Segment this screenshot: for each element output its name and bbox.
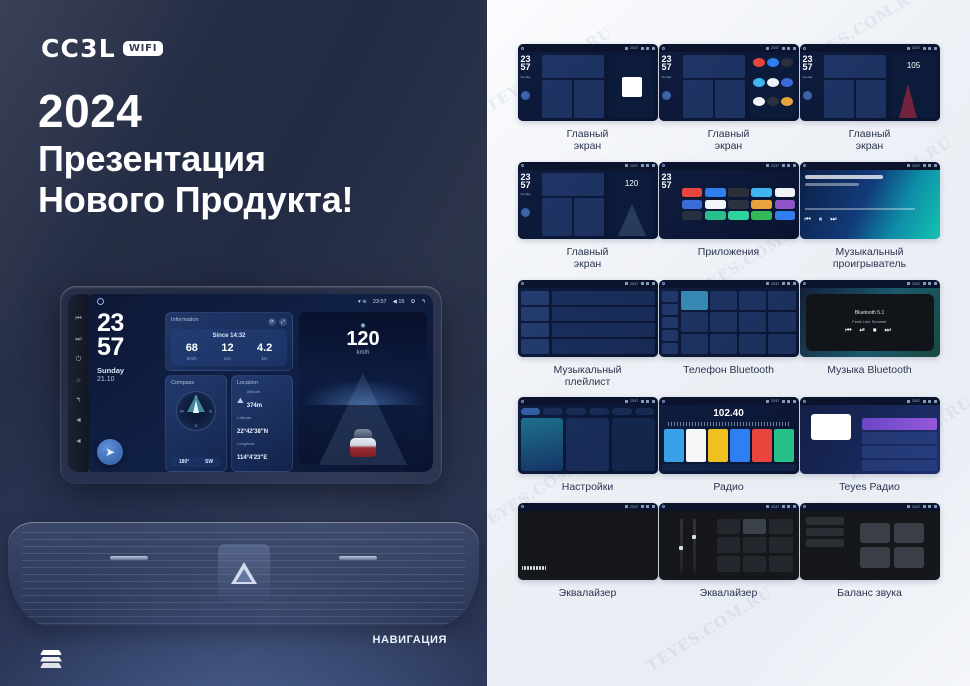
caption-line-2: проигрыватель [800,258,940,270]
dashboard-air-vents [8,522,479,626]
compass-readout: 180° SW [171,457,221,467]
caption-line-1: Главный [518,128,658,140]
home-icon [662,164,665,167]
caption-line-1: Настройки [518,481,658,493]
screen-thumbnail[interactable]: 23:57 [659,280,799,357]
gallery-item[interactable]: 23:57Телефон Bluetooth [659,280,799,389]
thumbnail-caption: Эквалайзер [518,587,658,599]
thumbnail-caption: Музыка Bluetooth [800,364,940,376]
information-title: Information [171,317,199,323]
app-icon [728,200,749,209]
clock-date: 21.10 [97,376,159,383]
longitude-label: Longitude [237,441,287,446]
app-grid [679,170,799,239]
screen-thumbnail[interactable]: 23:572357Sunday [659,44,799,121]
compass-point-e: E [209,409,212,414]
status-icons: 23:57 [625,282,655,286]
status-icons: 23:57 [766,399,796,403]
presentation-page: CC3L WIFI 2024 Презентация Нового Продук… [0,0,970,686]
thumbnail-caption: Телефон Bluetooth [659,364,799,376]
clock-weekday: Sunday [97,366,159,375]
gallery-item[interactable]: 23:572357Sunday105Главныйэкран [800,44,940,153]
speed-value: 120 [299,329,427,350]
home-icon [803,282,806,285]
navigation-arrow-icon [521,208,530,217]
thumb-status-bar: 23:57 [518,280,658,288]
compass-point-w: W [180,409,184,414]
lower-widgets-row: Compass N E S W 180° [165,375,293,472]
vent-tab-left[interactable] [110,556,148,560]
location-widget[interactable]: Location ⛰ Altitude 374m Latitude [231,375,293,472]
thumb-speed: 120 [625,179,638,188]
home-icon [803,505,806,508]
app-icon [775,188,796,197]
home-icon[interactable] [97,298,104,305]
gallery-item[interactable]: 23:57Эквалайзер [518,503,658,599]
status-time: 23:57 [373,299,387,305]
stat-unit: min [221,356,233,361]
status-icons: 23:57 [766,46,796,50]
compass-point-n: N [195,394,198,399]
back-button[interactable]: ↰ [76,397,82,404]
app-icon [751,211,772,220]
thumb-status-bar: 23:57 [518,162,658,170]
caption-line-1: Музыкальный [518,364,658,376]
stat-unit: km [257,356,272,361]
prev-track-button[interactable]: ⏮ [75,315,81,322]
compass-dial: N E S W [176,391,216,431]
thumbnail-caption: Эквалайзер [659,587,799,599]
home-icon [803,47,806,50]
wifi-badge: WIFI [123,41,164,56]
information-widget[interactable]: Information ⟳ ⤢ Since 14:32 [165,312,293,371]
screen-thumbnail[interactable]: 23:57 [800,397,940,474]
thumb-widgets [822,52,888,121]
caption-line-2: экран [659,140,799,152]
location-title: Location [237,380,287,386]
altitude-label: Altitude [247,389,262,394]
navigation-arrow-icon[interactable]: ➤ [97,439,123,465]
app-icon [705,211,726,220]
status-bar-right: ▾≋ 23:57 ◀15 ⚙ ↰ [358,299,426,305]
status-icons: 23:57 [766,505,796,509]
power-button[interactable]: ⏻ [76,356,82,363]
caption-line-1: Главный [518,246,658,258]
gallery-item[interactable]: 23:57Teyes Радио [800,397,940,493]
gallery-item[interactable]: 23:57Эквалайзер [659,503,799,599]
gallery-item[interactable]: 23:572357Sunday120Главныйэкран [518,162,658,271]
car-illustration [348,429,378,457]
thumbnail-caption: Приложения [659,246,799,258]
thumb-clock: 2357Sunday [659,52,681,121]
caption-line-2: плейлист [518,376,658,388]
gallery-item[interactable]: 23:57Bluetooth 5.1Feels Like Summer⏮ ⏯ ⏹… [800,280,940,389]
hazard-triangle-button[interactable] [218,544,270,602]
caption-line-1: Главный [659,128,799,140]
thumb-widgets [540,52,606,121]
screen-content: 23 57 Sunday 21.10 ➤ Information ⟳ [89,309,433,472]
thumbnail-caption: Главныйэкран [518,128,658,153]
volume-indicator[interactable]: ◀15 [393,299,405,305]
caption-line-1: Эквалайзер [518,587,658,599]
headline-line-2: Нового Продукта! [38,179,353,220]
screen-thumbnail[interactable]: 23:57 [800,503,940,580]
thumb-speed: 105 [907,61,920,70]
model-name: CC3L [41,34,116,63]
status-icons: 23:57 [907,282,937,286]
home-icon [521,505,524,508]
refresh-icon[interactable]: ⟳ [268,318,276,326]
status-icons: 23:57 [625,399,655,403]
clock-minutes: 57 [97,336,159,360]
thumb-clock: 2357Sunday [800,52,822,121]
app-icon [775,200,796,209]
thumbnail-caption: Радио [659,481,799,493]
compass-direction: SW [205,459,213,465]
caption-line-1: Радио [659,481,799,493]
thumb-status-bar: 23:57 [800,44,940,52]
compass-heading: 180° [179,459,189,465]
longitude-value: 114°4'23"E [237,455,267,461]
thumb-status-bar: 23:57 [659,162,799,170]
thumb-status-bar: 23:57 [518,503,658,511]
longitude-row: Longitude 114°4'23"E [237,441,287,464]
home-icon [521,164,524,167]
status-icons: 23:57 [766,164,796,168]
screen-thumbnail[interactable]: 23:572357 [659,162,799,239]
screen-thumbnail[interactable]: 23:57⏮ ⏸ ⏭ [800,162,940,239]
home-icon [662,400,665,403]
thumbnail-caption: Главныйэкран [518,246,658,271]
caption-line-1: Телефон Bluetooth [659,364,799,376]
gallery-item[interactable]: 23:572357SundayГлавныйэкран [518,44,658,153]
screen-thumbnail[interactable]: 23:57102.40 [659,397,799,474]
trip-stats: 68 km/h 12 min 4.2 km [174,343,284,361]
thumb-widgets [540,170,606,239]
stat-distance: 4.2 km [257,343,272,361]
status-icons: 23:57 [625,46,655,50]
thumb-clock: 2357Sunday [518,52,540,121]
home-icon [521,400,524,403]
left-hero-panel: CC3L WIFI 2024 Презентация Нового Продук… [0,0,487,686]
next-track-button[interactable]: ⏭ [75,336,81,343]
thumb-status-bar: 23:57 [659,280,799,288]
thumb-status-bar: 23:57 [659,503,799,511]
volume-up-button[interactable]: ◄ [75,438,82,445]
gallery-item[interactable]: 23:572357SundayГлавныйэкран [659,44,799,153]
device-side-buttons[interactable]: ⏮ ⏭ ⏻ ⌂ ↰ ◄ ◄ [68,294,89,472]
page-title: 2024 Презентация Нового Продукта! [38,86,353,220]
gallery-item[interactable]: 23:57⏮ ⏸ ⏭Музыкальныйпроигрыватель [800,162,940,271]
stat-speed: 68 km/h [186,343,198,361]
app-icon [728,188,749,197]
status-icons: 23:57 [907,164,937,168]
screen-thumbnail[interactable]: 23:572357Sunday [518,44,658,121]
screen-thumbnail[interactable]: 23:57 [659,503,799,580]
screens-gallery-panel: TEYES.COM.RU TEYES.COM.RU TEYES.COM.RU T… [487,0,970,686]
since-label: Since 14:32 [174,333,284,339]
compass-point-s: S [195,423,198,428]
information-body: Since 14:32 68 km/h 12 min [171,329,287,366]
screen-thumbnail[interactable]: 23:57 [518,503,658,580]
status-icons: 23:57 [766,282,796,286]
radio-frequency: 102.40 [662,408,796,419]
navigation-arrow-icon [662,91,671,100]
status-icons: 23:57 [907,505,937,509]
volume-level: 15 [398,299,404,305]
volume-down-button[interactable]: ◄ [75,417,82,424]
widgets-column: Information ⟳ ⤢ Since 14:32 [165,312,293,465]
compass-title: Compass [171,380,221,386]
drive-view-panel[interactable]: ◉ 120 km/h [299,312,427,465]
equalizer-sliders [518,511,551,580]
thumbnail-caption: Настройки [518,481,658,493]
app-icon [682,200,703,209]
stat-duration: 12 min [221,343,233,361]
caption-line-2: экран [518,258,658,270]
head-unit-device: ⏮ ⏭ ⏻ ⌂ ↰ ◄ ◄ ▾≋ 23:57 ◀15 ⚙ ↰ [60,286,442,484]
home-button[interactable]: ⌂ [76,377,80,384]
thumb-status-bar: 23:57 [800,503,940,511]
screen-thumbnail[interactable]: 23:572357Sunday120 [518,162,658,239]
app-icon [751,200,772,209]
speed-unit: km/h [299,350,427,356]
caption-line-2: экран [800,140,940,152]
app-icon [682,211,703,220]
app-icon [705,200,726,209]
home-icon [803,400,806,403]
app-icon [751,188,772,197]
thumb-widgets [681,52,747,121]
thumbnail-caption: Teyes Радио [800,481,940,493]
gear-icon[interactable]: ⚙ [410,299,415,305]
device-screen[interactable]: ▾≋ 23:57 ◀15 ⚙ ↰ 23 57 Sunday 21.10 ➤ [89,294,433,472]
app-icon [705,188,726,197]
clock-widget[interactable]: 23 57 Sunday 21.10 ➤ [97,312,159,465]
app-icon [728,211,749,220]
home-icon [803,164,806,167]
expand-icon[interactable]: ⤢ [279,318,287,326]
caption-line-1: Приложения [659,246,799,258]
caption-line-1: Teyes Радио [800,481,940,493]
latitude-row: Latitude 22°42'38"N [237,415,287,438]
gallery-item[interactable]: 23:57Баланс звука [800,503,940,599]
compass-widget[interactable]: Compass N E S W 180° [165,375,227,472]
gallery-item[interactable]: 23:57Настройки [518,397,658,493]
thumbnail-caption: Музыкальныйпроигрыватель [800,246,940,271]
altitude-row: ⛰ Altitude 374m [237,389,287,412]
information-header: Information ⟳ ⤢ [171,317,287,326]
thumb-status-bar: 23:57 [800,280,940,288]
caption-line-1: Главный [800,128,940,140]
altitude-value: 374m [247,403,262,409]
thumb-status-bar: 23:57 [659,397,799,405]
app-icon [682,188,703,197]
vent-tab-right[interactable] [339,556,377,560]
thumb-status-bar: 23:57 [518,397,658,405]
thumb-status-bar: 23:57 [800,397,940,405]
thumb-status-bar: 23:57 [659,44,799,52]
wifi-icon[interactable]: ▾≋ [358,299,367,305]
caption-line-1: Музыкальный [800,246,940,258]
back-arrow-icon[interactable]: ↰ [421,299,426,305]
screen-thumbnail[interactable]: 23:572357Sunday105 [800,44,940,121]
home-icon [521,47,524,50]
gallery-grid: 23:572357SundayГлавныйэкран23:572357Sund… [487,44,970,599]
status-icons: 23:57 [907,399,937,403]
hazard-icon [231,562,257,584]
product-logo: CC3L WIFI [41,34,163,63]
thumbnail-caption: Музыкальныйплейлист [518,364,658,389]
latitude-label: Latitude [237,415,287,420]
navigation-arrow-icon [521,91,530,100]
gallery-item[interactable]: 23:57102.40Радио [659,397,799,493]
latitude-value: 22°42'38"N [237,429,268,435]
caption-line-1: Музыка Bluetooth [800,364,940,376]
screen-thumbnail[interactable]: 23:57 [518,280,658,357]
thumb-clock: 2357Sunday [518,170,540,239]
thumb-status-bar: 23:57 [518,44,658,52]
car-body [350,438,376,457]
footer-label: НАВИГАЦИЯ [373,634,447,646]
thumbnail-caption: Баланс звука [800,587,940,599]
speed-readout: ◉ 120 km/h [299,322,427,356]
headline-line-1: Презентация [38,138,353,179]
screen-thumbnail[interactable]: 23:57Bluetooth 5.1Feels Like Summer⏮ ⏯ ⏹… [800,280,940,357]
headline-year: 2024 [38,86,353,138]
mountain-icon: ⛰ [237,396,244,406]
app-icon [775,211,796,220]
caption-line-1: Эквалайзер [659,587,799,599]
status-icons: 23:57 [625,164,655,168]
home-icon [662,47,665,50]
caption-line-1: Баланс звука [800,587,940,599]
compass-needle [193,400,199,413]
status-icons: 23:57 [625,505,655,509]
home-icon [662,505,665,508]
screen-thumbnail[interactable]: 23:57 [518,397,658,474]
stat-unit: km/h [186,356,198,361]
status-icons: 23:57 [907,46,937,50]
stat-value: 12 [221,343,233,354]
home-icon [521,282,524,285]
home-icon [662,282,665,285]
thumbnail-caption: Главныйэкран [800,128,940,153]
stat-value: 68 [186,343,198,354]
gallery-item[interactable]: 23:572357Приложения [659,162,799,271]
stat-value: 4.2 [257,343,272,354]
gallery-item[interactable]: 23:57Музыкальныйплейлист [518,280,658,389]
thumbnail-caption: Главныйэкран [659,128,799,153]
thumb-status-bar: 23:57 [800,162,940,170]
status-bar: ▾≋ 23:57 ◀15 ⚙ ↰ [89,294,433,309]
caption-line-2: экран [518,140,658,152]
navigation-arrow-icon [803,91,812,100]
